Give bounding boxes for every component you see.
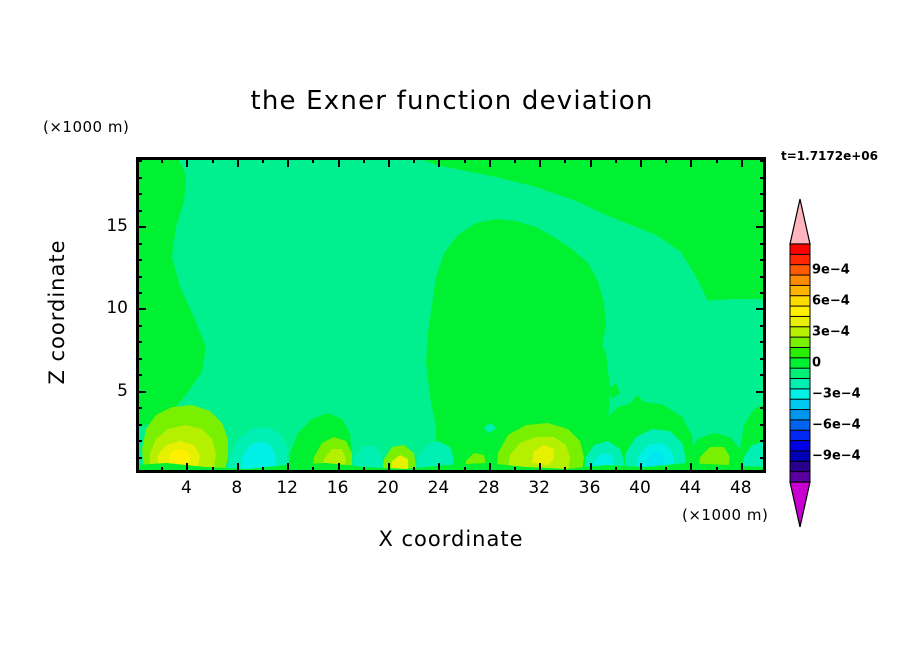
- y-axis-units-label: (×1000 m): [43, 118, 129, 136]
- tick-mark: [760, 325, 766, 327]
- y-axis-title: Z coordinate: [45, 227, 69, 397]
- tick-mark: [615, 157, 617, 163]
- tick-mark: [741, 157, 743, 167]
- colorbar-tick-label: −9e−4: [812, 449, 861, 464]
- tick-mark: [136, 374, 142, 376]
- colorbar-band: [790, 316, 810, 327]
- tick-mark: [760, 358, 766, 360]
- tick-mark: [489, 463, 491, 473]
- colorbar-band: [790, 296, 810, 307]
- tick-mark: [136, 391, 146, 393]
- tick-mark: [741, 463, 743, 473]
- colorbar-band: [790, 265, 810, 276]
- colorbar-band: [790, 368, 810, 379]
- tick-mark: [760, 407, 766, 409]
- tick-mark: [136, 160, 142, 162]
- tick-mark: [760, 193, 766, 195]
- x-tick-label: 12: [276, 478, 298, 498]
- colorbar-band: [790, 254, 810, 265]
- tick-mark: [136, 177, 142, 179]
- tick-mark: [161, 157, 163, 163]
- tick-mark: [760, 292, 766, 294]
- y-tick-label: 10: [88, 298, 128, 318]
- colorbar-band: [790, 244, 810, 255]
- tick-mark: [388, 463, 390, 473]
- x-tick-label: 24: [428, 478, 450, 498]
- tick-mark: [760, 424, 766, 426]
- colorbar-tick-label: 6e−4: [812, 293, 850, 308]
- tick-mark: [136, 407, 142, 409]
- colorbar-band: [790, 358, 810, 369]
- colorbar-band: [790, 430, 810, 441]
- tick-mark: [388, 157, 390, 167]
- tick-mark: [760, 259, 766, 261]
- colorbar-band: [790, 399, 810, 410]
- tick-mark: [186, 463, 188, 473]
- tick-mark: [690, 157, 692, 167]
- tick-mark: [136, 243, 142, 245]
- tick-mark: [212, 467, 214, 473]
- tick-mark: [136, 210, 142, 212]
- tick-mark: [161, 467, 163, 473]
- tick-mark: [338, 463, 340, 473]
- tick-mark: [760, 210, 766, 212]
- tick-mark: [136, 358, 142, 360]
- tick-mark: [760, 243, 766, 245]
- x-axis-title: X coordinate: [136, 527, 766, 551]
- timestamp-label: t=1.7172e+06: [781, 149, 878, 163]
- x-axis-units-label: (×1000 m): [682, 506, 768, 524]
- x-tick-label: 48: [730, 478, 752, 498]
- colorbar-band: [790, 327, 810, 338]
- x-tick-label: 4: [181, 478, 192, 498]
- tick-mark: [136, 325, 142, 327]
- tick-mark: [136, 308, 146, 310]
- tick-mark: [438, 463, 440, 473]
- colorbar-tick-label: −3e−4: [812, 387, 861, 402]
- tick-mark: [564, 157, 566, 163]
- tick-mark: [136, 457, 142, 459]
- tick-mark: [363, 157, 365, 163]
- tick-mark: [640, 463, 642, 473]
- tick-mark: [716, 157, 718, 163]
- tick-mark: [590, 463, 592, 473]
- tick-mark: [136, 193, 142, 195]
- y-tick-label: 5: [88, 381, 128, 401]
- colorbar-band: [790, 420, 810, 431]
- colorbar-band: [790, 275, 810, 286]
- tick-mark: [539, 157, 541, 167]
- tick-mark: [237, 157, 239, 167]
- tick-mark: [760, 341, 766, 343]
- tick-mark: [338, 157, 340, 167]
- tick-mark: [756, 391, 766, 393]
- x-tick-label: 44: [680, 478, 702, 498]
- colorbar-band: [790, 347, 810, 358]
- colorbar-tick-label: −6e−4: [812, 418, 861, 433]
- tick-mark: [539, 463, 541, 473]
- y-tick-label: 15: [88, 216, 128, 236]
- tick-mark: [489, 157, 491, 167]
- tick-mark: [760, 374, 766, 376]
- colorbar-band: [790, 306, 810, 317]
- tick-mark: [136, 259, 142, 261]
- tick-mark: [363, 467, 365, 473]
- tick-mark: [760, 177, 766, 179]
- tick-mark: [464, 467, 466, 473]
- x-tick-label: 16: [327, 478, 349, 498]
- x-tick-label: 20: [377, 478, 399, 498]
- page-title: the Exner function deviation: [0, 86, 904, 116]
- tick-mark: [640, 157, 642, 167]
- tick-mark: [136, 424, 142, 426]
- tick-mark: [287, 463, 289, 473]
- tick-mark: [464, 157, 466, 163]
- tick-mark: [237, 463, 239, 473]
- tick-mark: [136, 292, 142, 294]
- tick-mark: [690, 463, 692, 473]
- tick-mark: [590, 157, 592, 167]
- colorbar-band: [790, 410, 810, 421]
- tick-mark: [212, 157, 214, 163]
- tick-mark: [760, 457, 766, 459]
- figure-canvas: the Exner function deviation (×1000 m) (…: [0, 0, 904, 654]
- tick-mark: [136, 440, 142, 442]
- tick-mark: [514, 157, 516, 163]
- tick-mark: [760, 440, 766, 442]
- x-tick-label: 40: [629, 478, 651, 498]
- tick-mark: [514, 467, 516, 473]
- colorbar-tick-label: 0: [812, 356, 821, 371]
- tick-mark: [312, 157, 314, 163]
- tick-mark: [564, 467, 566, 473]
- colorbar-tick-label: 3e−4: [812, 324, 850, 339]
- colorbar-band: [790, 337, 810, 348]
- x-tick-label: 8: [231, 478, 242, 498]
- tick-mark: [756, 226, 766, 228]
- colorbar-band: [790, 389, 810, 400]
- colorbar-cap-top: [790, 199, 810, 244]
- tick-mark: [665, 157, 667, 163]
- colorbar-band: [790, 285, 810, 296]
- tick-mark: [136, 226, 146, 228]
- tick-mark: [760, 276, 766, 278]
- x-tick-label: 36: [579, 478, 601, 498]
- colorbar-cap-bottom: [790, 482, 810, 527]
- tick-mark: [716, 467, 718, 473]
- tick-mark: [760, 160, 766, 162]
- tick-mark: [136, 276, 142, 278]
- colorbar-band: [790, 472, 810, 483]
- colorbar-band: [790, 441, 810, 452]
- x-tick-label: 32: [528, 478, 550, 498]
- tick-mark: [287, 157, 289, 167]
- tick-mark: [413, 467, 415, 473]
- colorbar-band: [790, 451, 810, 462]
- tick-mark: [262, 467, 264, 473]
- x-tick-label: 28: [478, 478, 500, 498]
- tick-mark: [615, 467, 617, 473]
- colorbar-tick-label: 9e−4: [812, 262, 850, 277]
- tick-mark: [413, 157, 415, 163]
- tick-mark: [438, 157, 440, 167]
- tick-mark: [756, 308, 766, 310]
- colorbar-band: [790, 461, 810, 472]
- tick-mark: [186, 157, 188, 167]
- tick-mark: [262, 157, 264, 163]
- tick-mark: [312, 467, 314, 473]
- tick-mark: [136, 341, 142, 343]
- contour-plot-area: [136, 157, 766, 473]
- tick-mark: [665, 467, 667, 473]
- colorbar-band: [790, 379, 810, 390]
